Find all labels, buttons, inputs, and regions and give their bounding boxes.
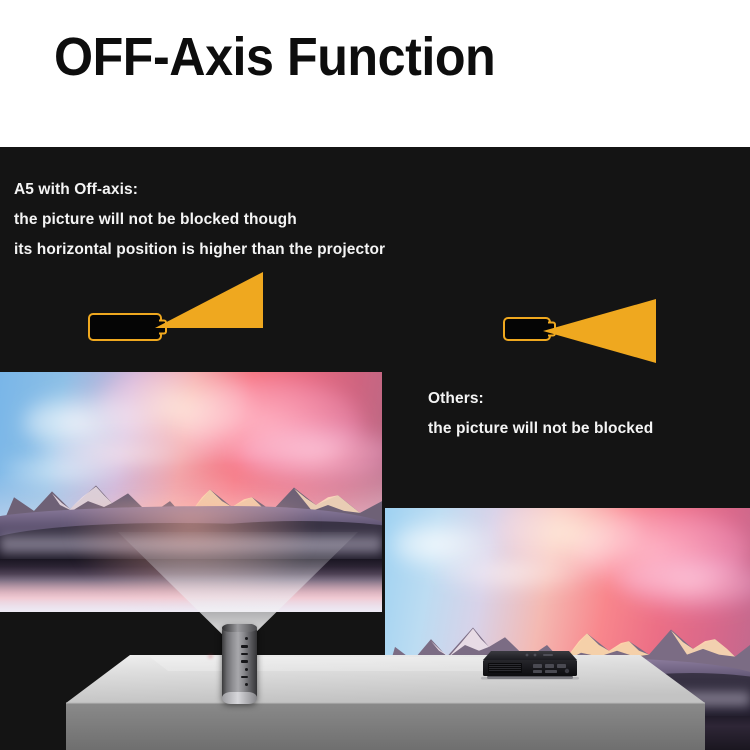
caption-off-axis-line3: its horizontal position is higher than t… — [14, 235, 385, 265]
mist-band — [385, 687, 750, 711]
cloud-wisp — [436, 556, 597, 590]
caption-off-axis-heading: A5 with Off-axis: — [14, 175, 385, 205]
foreground-dark — [385, 716, 750, 750]
port-slot — [241, 645, 248, 648]
lens-reflection-dot — [208, 655, 213, 658]
off-axis-beam-icon — [155, 272, 265, 332]
projected-image-off-axis — [0, 372, 382, 612]
port-indicator — [245, 637, 248, 640]
cylinder-ports — [241, 637, 248, 686]
port-indicator — [245, 683, 248, 686]
port-slot — [241, 653, 248, 656]
cylinder-base — [222, 692, 257, 704]
box-projector — [477, 649, 583, 683]
port-slot — [241, 676, 248, 679]
dark-stage: A5 with Off-axis: the picture will not b… — [0, 147, 750, 750]
bottom-haze — [0, 574, 382, 612]
projected-image-others — [385, 508, 750, 750]
caption-others-heading: Others: — [428, 384, 653, 414]
centered-beam-icon — [543, 299, 653, 361]
caption-others-line2: the picture will not be blocked — [428, 414, 653, 444]
caption-off-axis-line2: the picture will not be blocked though — [14, 205, 385, 235]
caption-off-axis: A5 with Off-axis: the picture will not b… — [14, 175, 385, 265]
projector-chip-icon-left — [88, 313, 162, 341]
scene-others — [385, 508, 750, 750]
port-indicator — [245, 668, 248, 671]
caption-others: Others: the picture will not be blocked — [428, 384, 653, 444]
slide-root: OFF-Axis Function A5 with Off-axis: the … — [0, 0, 750, 750]
port-slot — [241, 660, 248, 663]
cloud-wisp — [619, 556, 750, 609]
page-title: OFF-Axis Function — [54, 26, 495, 88]
cylinder-top-cap — [222, 624, 257, 632]
header-band: OFF-Axis Function — [0, 0, 750, 147]
cylinder-projector — [222, 624, 257, 702]
scene-off-axis — [0, 372, 382, 612]
